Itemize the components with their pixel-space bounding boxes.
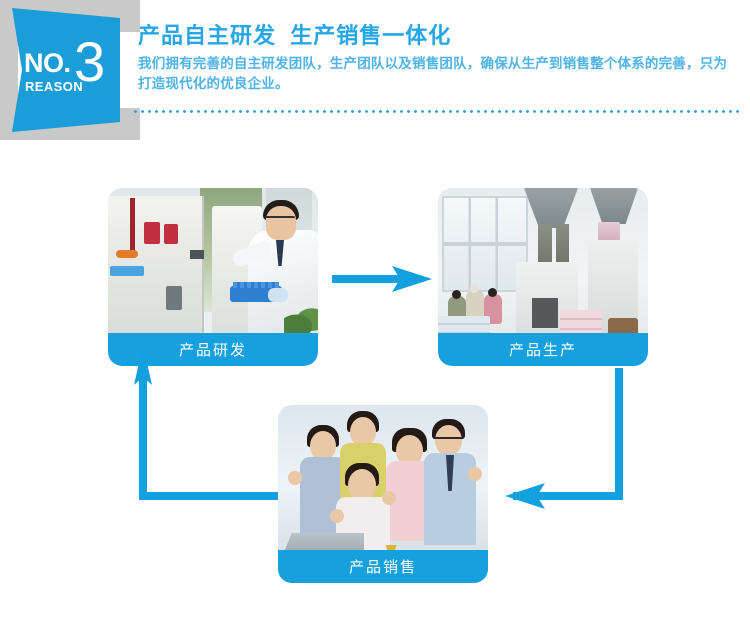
page-header: NO. REASON 3 产品自主研发 生产销售一体化 我们拥有完善的自主研发团… <box>0 0 750 150</box>
flow-card-label-product-rd: 产品研发 <box>108 333 318 366</box>
flow-card-label-product-production: 产品生产 <box>438 333 648 366</box>
arrow-sales-to-rd <box>134 345 278 500</box>
process-flow-diagram: 产品研发 产品生产 <box>0 150 750 618</box>
flow-card-label-product-sales: 产品销售 <box>278 550 488 583</box>
flow-card-product-rd[interactable]: 产品研发 <box>108 188 318 366</box>
header-text-block: 产品自主研发 生产销售一体化 我们拥有完善的自主研发团队，生产团队以及销售团队，… <box>138 22 738 95</box>
arrow-rd-to-production <box>332 266 432 292</box>
reason-badge: NO. REASON 3 <box>12 8 120 132</box>
page-description: 我们拥有完善的自主研发团队，生产团队以及销售团队，确保从生产到销售整个体系的完善… <box>138 54 738 96</box>
header-dotted-divider <box>132 110 740 113</box>
flow-card-product-production[interactable]: 产品生产 <box>438 188 648 366</box>
badge-no-label: NO. <box>24 50 71 77</box>
arrow-production-to-sales <box>505 368 623 509</box>
flow-card-product-sales[interactable]: 产品销售 <box>278 405 488 583</box>
badge-number: 3 <box>74 34 105 90</box>
page-title: 产品自主研发 生产销售一体化 <box>138 22 738 50</box>
